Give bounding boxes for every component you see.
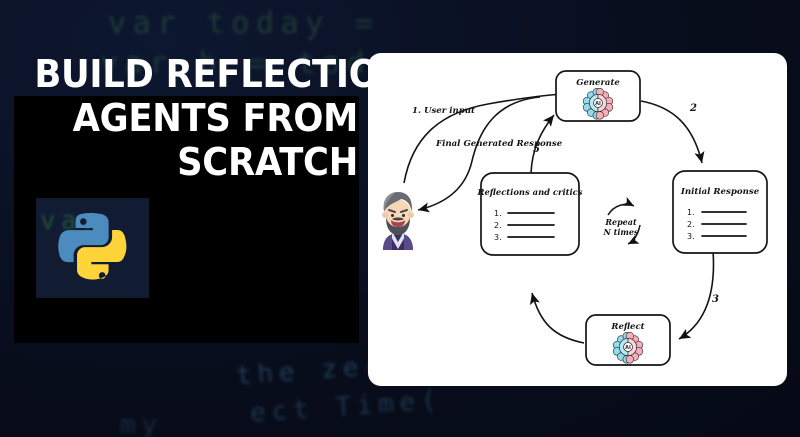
title-line-3: Scratch — [34, 140, 358, 184]
ai-brain-text: AI — [625, 345, 631, 351]
bg-code-line-1: var today = — [108, 6, 379, 41]
node-generate-label: Generate — [576, 78, 620, 88]
node-initial-response[interactable]: Initial Response 1. 2. 3. — [673, 171, 767, 253]
reflections-item-1: 1. — [494, 209, 502, 218]
reflections-item-3: 3. — [494, 233, 502, 242]
ai-brain-text: AI — [595, 101, 601, 107]
edge-label-user-input: 1. User input — [412, 106, 475, 116]
bg-code-line-7: my — [120, 410, 163, 437]
node-reflect-label: Reflect — [610, 322, 644, 332]
node-initial-response-label: Initial Response — [680, 187, 760, 197]
edge-label-3: 3 — [712, 294, 719, 305]
bg-code-line-5: ect Time( — [249, 385, 443, 428]
repeat-arrow-top — [608, 204, 634, 215]
repeat-label-line1: Repeat — [604, 217, 637, 227]
edge-label-2: 2 — [689, 103, 697, 114]
node-reflections-and-critics[interactable]: Reflections and critics 1. 2. 3. — [476, 173, 582, 255]
edge-3 — [679, 251, 714, 339]
initial-item-3: 3. — [687, 232, 695, 241]
edge-label-final-response: Final Generated Response — [435, 139, 563, 149]
repeat-label-line2: N times — [603, 227, 639, 237]
reflection-agent-diagram: Generate AI Initial Response 1. 2. 3. — [368, 53, 787, 386]
diagram-card: Generate AI Initial Response 1. 2. 3. — [368, 53, 787, 386]
repeat-annotation: Repeat N times — [603, 204, 640, 244]
thumbnail-canvas: var today = var b = tod var the zer ect … — [0, 0, 800, 437]
node-reflections-label: Reflections and critics — [476, 187, 582, 197]
title-line-1: Build Reflection — [34, 52, 358, 96]
reflections-item-2: 2. — [494, 221, 502, 230]
python-logo-icon — [50, 205, 136, 291]
title-line-2: Agents From — [34, 96, 358, 140]
initial-item-2: 2. — [687, 220, 695, 229]
user-avatar — [382, 192, 414, 250]
python-logo: var — [36, 198, 149, 298]
page-title: Build Reflection Agents From Scratch — [34, 52, 358, 184]
edge-label-5: 5 — [533, 144, 540, 155]
initial-item-1: 1. — [687, 208, 695, 217]
bg-code-line-4: the zer — [235, 351, 386, 391]
node-generate[interactable]: Generate AI — [556, 71, 640, 121]
node-reflect[interactable]: Reflect AI — [586, 315, 670, 365]
edge-4 — [532, 293, 584, 343]
